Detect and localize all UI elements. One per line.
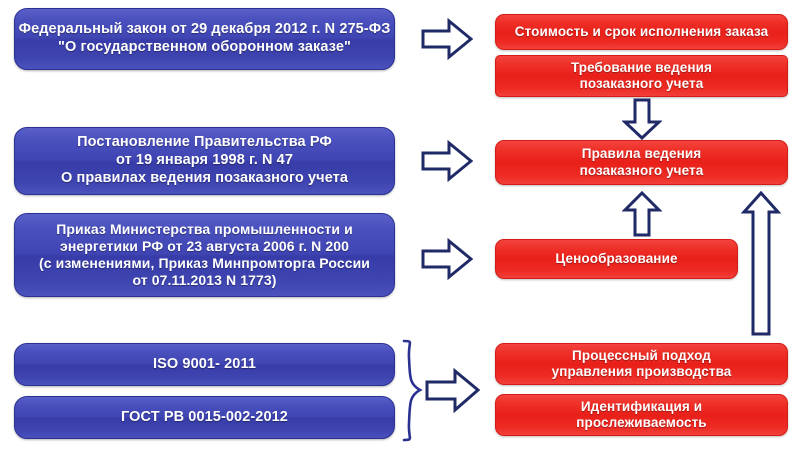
arrow-right-icon: [421, 238, 473, 280]
outcome-box-pricing[interactable]: Ценообразование: [495, 239, 738, 279]
outcome-box-rules-order-accounting[interactable]: Правила ведения позаказного учета: [495, 140, 788, 185]
ministry-order-line-3: (с изменениями, Приказ Минпромторга Росс…: [39, 255, 370, 272]
government-decree-line-1: Постановление Правительства РФ: [61, 134, 348, 152]
pricing-label: Ценообразование: [555, 251, 677, 267]
outcome-box-process-approach[interactable]: Процессный подход управления производств…: [495, 343, 788, 385]
outcome-box-cost-and-term[interactable]: Стоимость и срок исполнения заказа: [495, 14, 788, 50]
diagram-canvas: Федеральный закон от 29 декабря 2012 г. …: [0, 0, 800, 454]
process-approach-line-1: Процессный подход: [552, 348, 732, 364]
process-approach-line-2: управления производства: [552, 364, 732, 380]
requirement-line-1: Требование ведения: [571, 60, 712, 76]
outcome-box-requirement-order-accounting[interactable]: Требование ведения позаказного учета: [495, 55, 788, 97]
normative-box-iso-9001[interactable]: ISO 9001- 2011: [14, 343, 395, 386]
curly-brace-icon: [398, 338, 426, 444]
arrow-right-icon: [421, 18, 473, 60]
arrow-down-icon: [622, 98, 662, 140]
identification-line-1: Идентификация и: [576, 399, 706, 415]
identification-line-2: прослеживаемость: [576, 415, 706, 431]
arrow-right-icon: [421, 140, 473, 182]
ministry-order-line-4: от 07.11.2013 N 1773): [39, 272, 370, 289]
arrow-up-icon: [622, 190, 662, 237]
federal-law-line-1: Федеральный закон от 29 декабря 2012 г. …: [19, 21, 391, 39]
ministry-order-line-2: энергетики РФ от 23 августа 2006 г. N 20…: [39, 238, 370, 255]
rules-line-2: позаказного учета: [580, 163, 704, 179]
government-decree-line-2: от 19 января 1998 г. N 47: [61, 152, 348, 170]
arrow-right-icon: [425, 368, 480, 413]
government-decree-line-3: О правилах ведения позаказного учета: [61, 170, 348, 188]
normative-box-gost-rv[interactable]: ГОСТ РВ 0015-002-2012: [14, 396, 395, 439]
normative-box-ministry-order[interactable]: Приказ Министерства промышленности и эне…: [14, 213, 395, 297]
requirement-line-2: позаказного учета: [571, 76, 712, 92]
federal-law-line-2: "О государственном оборонном заказе": [19, 39, 391, 57]
iso-9001-label: ISO 9001- 2011: [153, 356, 256, 374]
rules-line-1: Правила ведения: [580, 146, 704, 162]
normative-box-government-decree[interactable]: Постановление Правительства РФ от 19 янв…: [14, 127, 395, 195]
arrow-up-long-icon: [740, 190, 782, 336]
ministry-order-line-1: Приказ Министерства промышленности и: [39, 221, 370, 238]
cost-and-term-label: Стоимость и срок исполнения заказа: [515, 24, 768, 40]
outcome-box-identification-traceability[interactable]: Идентификация и прослеживаемость: [495, 394, 788, 436]
gost-rv-label: ГОСТ РВ 0015-002-2012: [121, 409, 288, 427]
normative-box-federal-law[interactable]: Федеральный закон от 29 декабря 2012 г. …: [14, 8, 395, 70]
